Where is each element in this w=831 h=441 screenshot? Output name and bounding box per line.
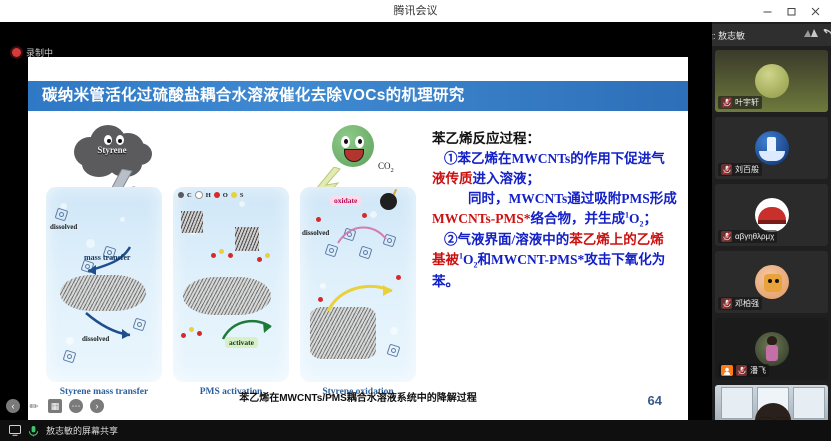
signal-icon — [804, 26, 818, 44]
slide-title-band: 碳纳米管活化过硫酸盐耦合水溶液催化去除VOCs的机理研究 — [28, 81, 688, 111]
avatar — [755, 64, 789, 98]
tile-name-4: 潘飞 — [718, 364, 769, 377]
slide-title: 碳纳米管活化过硫酸盐耦合水溶液催化去除VOCs的机理研究 — [42, 81, 465, 111]
active-speaker-label: 正在讲话: 敖志敏 — [712, 29, 745, 42]
text-line-7: 苯。 — [432, 272, 680, 292]
legend-label-c: C — [187, 192, 192, 199]
recording-indicator: 录制中 — [6, 44, 59, 61]
speaker-banner-actions — [804, 26, 831, 44]
status-bar-label: 敖志敏的屏幕共享 — [46, 424, 118, 437]
dissolved-label-1: dissolved — [50, 223, 77, 231]
participant-tile-1[interactable]: 刘百般 — [715, 117, 828, 179]
styrene-label: Styrene — [68, 145, 156, 155]
legend-label-o: O — [223, 192, 228, 199]
collapse-arrow-icon[interactable] — [822, 26, 831, 44]
panel-mass-transfer: dissolved dissolved mass transfer — [46, 187, 162, 382]
tile-name-3: 邓柏强 — [718, 297, 762, 310]
slide-bottom-caption: 苯乙烯在MWCNTs/PMS耦合水溶液系统中的降解过程 — [28, 389, 688, 404]
curved-arrow-icon — [334, 217, 392, 251]
text-heading: 苯乙烯反应过程： — [432, 129, 680, 149]
transfer-arrow-icon — [82, 245, 134, 279]
tile-name-2: αβγηθλρμχ — [718, 230, 777, 243]
mic-muted-icon — [721, 164, 732, 175]
bomb-icon — [380, 193, 397, 210]
tile-name-0: 叶宇轩 — [718, 96, 762, 109]
participant-tile-4[interactable]: 潘飞 — [715, 318, 828, 380]
text-line-2: 液传质进入溶液； — [432, 169, 680, 189]
panel-pms-activation: activate — [173, 187, 289, 382]
window-title: 腾讯会议 — [0, 0, 831, 22]
presentation-controls: ‹ ✏ ▦ ⋯ › — [6, 399, 104, 413]
participant-tile-2[interactable]: αβγηθλρμχ — [715, 184, 828, 246]
avatar — [755, 131, 789, 165]
activate-label: activate — [225, 337, 258, 348]
presentation-slide: 碳纳米管活化过硫酸盐耦合水溶液催化去除VOCs的机理研究 — [28, 57, 688, 428]
screen-share-status-bar: 敖志敏的屏幕共享 — [0, 420, 831, 441]
close-button[interactable] — [803, 0, 827, 22]
meeting-workspace: 录制中 碳纳米管活化过硫酸盐耦合水溶液催化去除VOCs的机理研究 — [0, 22, 831, 420]
next-slide-button[interactable]: › — [90, 399, 104, 413]
mic-muted-icon — [736, 365, 747, 376]
dissolved-label-2: dissolved — [82, 335, 109, 343]
text-line-1: ①苯乙烯在MWCNTs的作用下促进气 — [432, 149, 680, 169]
co2-label: CO2 — [378, 161, 394, 174]
slide-text-block: 苯乙烯反应过程： ①苯乙烯在MWCNTs的作用下促进气 液传质进入溶液； 同时，… — [432, 129, 680, 292]
legend-dot-s — [231, 192, 237, 198]
mass-transfer-label: mass transfer — [84, 253, 130, 262]
oxidation-arrow-icon — [322, 273, 398, 317]
window-controls — [755, 0, 827, 22]
legend-label-s: S — [240, 192, 244, 199]
previous-slide-button[interactable]: ‹ — [6, 399, 20, 413]
legend-dot-c — [178, 192, 184, 198]
slide-view-button[interactable]: ▦ — [48, 399, 62, 413]
avatar — [755, 265, 789, 299]
legend-label-h: H — [206, 192, 211, 199]
mechanism-diagram: Styrene CO2 — [40, 119, 422, 409]
pen-tool-button[interactable]: ✏ — [27, 399, 41, 413]
text-line-5: ②气液界面/溶液中的苯乙烯上的乙烯 — [432, 230, 680, 250]
dissolved-label-3: dissolved — [302, 229, 329, 237]
maximize-button[interactable] — [779, 0, 803, 22]
mic-icon[interactable] — [27, 424, 40, 437]
mic-muted-icon — [721, 97, 732, 108]
active-speaker-banner: 正在讲话: 敖志敏 — [712, 24, 831, 46]
co2-face-icon — [332, 125, 374, 167]
recording-label: 录制中 — [26, 46, 53, 59]
tile-name-1: 刘百般 — [718, 163, 762, 176]
atom-legend: C H O S — [178, 191, 243, 199]
window-titlebar: 腾讯会议 — [0, 0, 831, 23]
slide-page-number: 64 — [648, 393, 662, 408]
legend-dot-h — [195, 191, 203, 199]
text-line-3: 同时，MWCNTs通过吸附PMS形成 — [432, 189, 680, 209]
more-options-button[interactable]: ⋯ — [69, 399, 83, 413]
avatar — [755, 332, 789, 366]
legend-dot-o — [214, 192, 220, 198]
mic-muted-icon — [721, 231, 732, 242]
minimize-button[interactable] — [755, 0, 779, 22]
text-line-4: MWCNTs-PMS*络合物，并生成1O2； — [432, 209, 680, 231]
participant-roster: 正在讲话: 敖志敏 叶宇轩 — [712, 22, 831, 420]
participant-tile-3[interactable]: 邓柏强 — [715, 251, 828, 313]
monitor-icon — [8, 424, 21, 437]
tencent-meeting-window: 腾讯会议 录制中 碳纳米管活化过硫 — [0, 0, 831, 441]
avatar — [755, 198, 789, 232]
shared-screen-stage[interactable]: 录制中 碳纳米管活化过硫酸盐耦合水溶液催化去除VOCs的机理研究 — [0, 22, 712, 420]
host-badge-icon — [721, 365, 733, 376]
participant-tile-0[interactable]: 叶宇轩 — [715, 50, 828, 112]
record-dot-icon — [12, 48, 21, 57]
panel-styrene-oxidation: oxidate dissolved — [300, 187, 416, 382]
mic-muted-icon — [721, 298, 732, 309]
participant-tile-5[interactable]: 敖志敏 — [715, 385, 828, 420]
oxidate-label: oxidate — [330, 195, 361, 206]
text-line-6: 基被1O2和MWCNT-PMS*攻击下氧化为 — [432, 250, 680, 272]
